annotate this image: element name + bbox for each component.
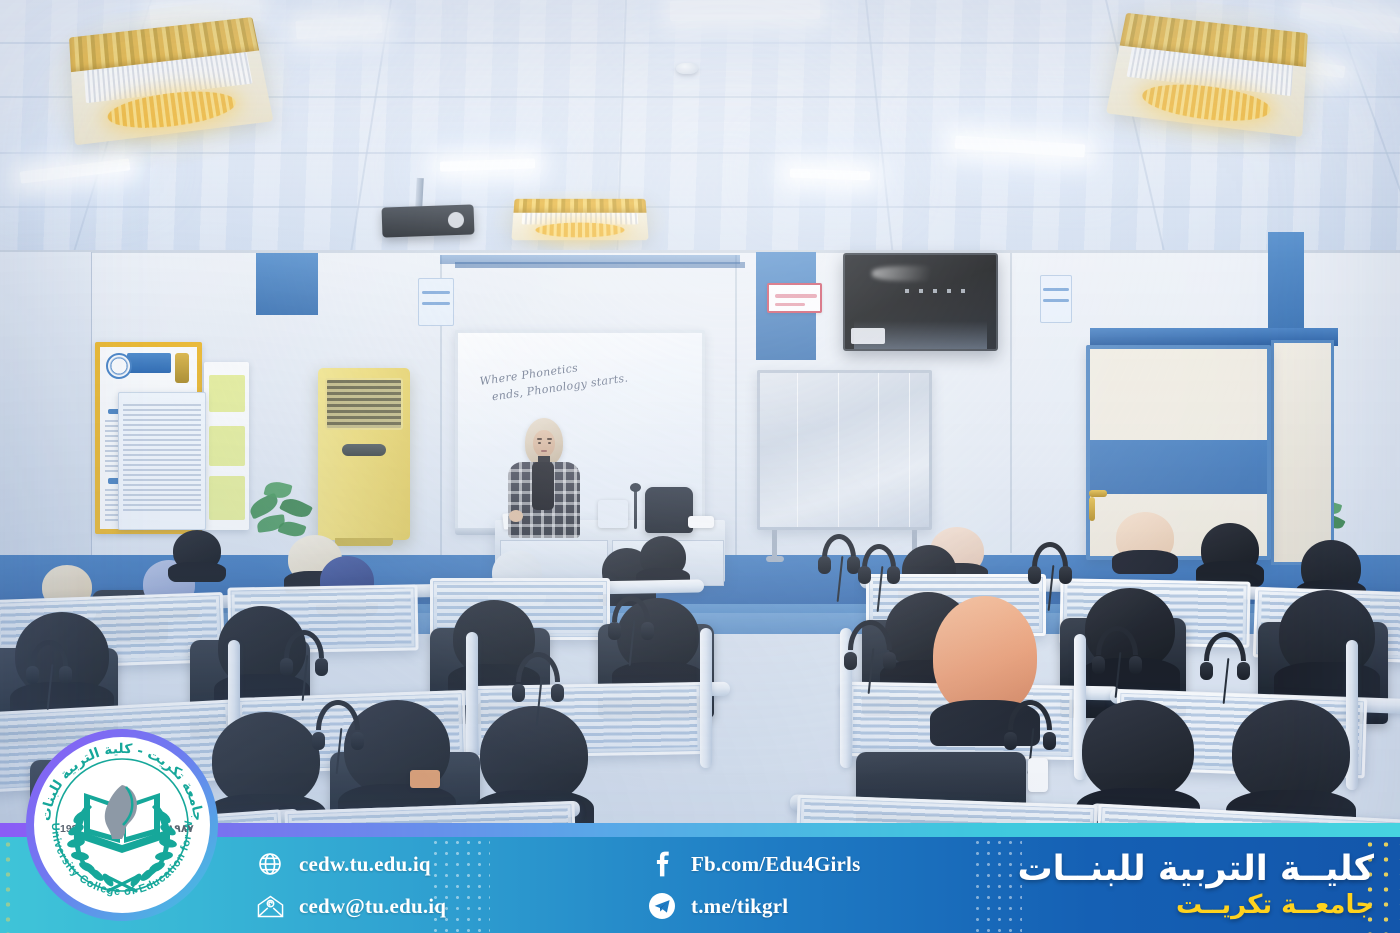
headphones[interactable] xyxy=(1204,632,1246,680)
red-bordered-sign xyxy=(767,283,822,313)
whiteboard-top-rail xyxy=(455,262,745,268)
microphone-icon xyxy=(630,483,641,492)
air-conditioner-unit xyxy=(318,368,410,540)
tv-sticker xyxy=(851,328,885,344)
college-name: كليــة التربية للبنــات xyxy=(1017,851,1374,889)
door-side-panel xyxy=(1271,340,1334,565)
contact-telegram[interactable]: t.me/tikgrl xyxy=(648,892,860,920)
contact-column-web: cedw.tu.edu.iq cedw@tu.edu.iq xyxy=(256,837,446,933)
fluorescent-strip-light xyxy=(670,0,820,21)
student-device[interactable] xyxy=(1028,758,1048,792)
door-handle[interactable] xyxy=(1089,490,1107,497)
wall-mounted-television xyxy=(843,253,998,351)
decorative-dot-pattern xyxy=(972,837,1022,933)
microphone-stand xyxy=(634,487,637,529)
contact-email[interactable]: cedw@tu.edu.iq xyxy=(256,892,446,920)
headphones[interactable] xyxy=(30,640,68,684)
contact-facebook[interactable]: Fb.com/Edu4Girls xyxy=(648,850,860,878)
contact-column-social: Fb.com/Edu4Girls t.me/tikgrl xyxy=(648,837,860,933)
decorative-gold-dots xyxy=(0,837,16,933)
student xyxy=(168,530,226,582)
telegram-url: t.me/tikgrl xyxy=(691,894,788,919)
facebook-icon xyxy=(648,850,676,878)
student xyxy=(1112,512,1178,574)
telegram-icon xyxy=(648,892,676,920)
headphones[interactable] xyxy=(1008,700,1052,750)
university-name: جامعــة تكريــت xyxy=(1176,891,1374,919)
contact-website[interactable]: cedw.tu.edu.iq xyxy=(256,850,446,878)
headphones[interactable] xyxy=(612,596,650,640)
booth-post xyxy=(700,628,712,768)
student xyxy=(1274,590,1380,702)
website-url: cedw.tu.edu.iq xyxy=(299,852,431,877)
wall-poster xyxy=(118,392,206,530)
screen-stand xyxy=(772,530,777,558)
ornate-ceiling-lamp xyxy=(511,199,648,240)
student xyxy=(1196,523,1264,587)
projection-screen-panel xyxy=(757,370,932,530)
instructor-face xyxy=(533,430,555,457)
smoke-detector-icon xyxy=(676,63,698,74)
ceiling-projector xyxy=(382,204,475,237)
student-hijab xyxy=(1232,700,1350,804)
university-logo: جامعة تكريت - كلية التربية للبنات Tikrit… xyxy=(22,725,222,925)
screenshot-root: Where Phonetics ends, Phonology starts. xyxy=(0,0,1400,933)
headphones[interactable] xyxy=(822,534,856,574)
wall-notice xyxy=(418,278,454,326)
whiteboard-handwriting: Where Phonetics ends, Phonology starts. xyxy=(479,345,682,407)
facebook-url: Fb.com/Edu4Girls xyxy=(691,852,860,877)
left-wall-panel xyxy=(0,252,92,582)
logo-svg: جامعة تكريت - كلية التربية للبنات Tikrit… xyxy=(22,725,222,925)
headphones[interactable] xyxy=(516,652,560,702)
envelope-icon xyxy=(256,892,284,920)
headphones[interactable] xyxy=(316,700,360,750)
instructor-chair xyxy=(645,487,693,533)
email-address: cedw@tu.edu.iq xyxy=(299,894,446,919)
door-handle-lever[interactable] xyxy=(1089,497,1095,521)
headphones[interactable] xyxy=(848,620,892,670)
monitor-back xyxy=(598,500,628,528)
instructor xyxy=(503,418,585,536)
globe-icon xyxy=(256,850,284,878)
headphones[interactable] xyxy=(862,544,896,584)
student-hijab xyxy=(1082,700,1194,800)
headphones[interactable] xyxy=(1032,542,1068,584)
headphones[interactable] xyxy=(284,630,324,676)
desk-item xyxy=(688,516,714,528)
wall-notice xyxy=(1040,275,1072,323)
blue-wall-accent xyxy=(256,253,318,315)
screen-stand-foot xyxy=(766,556,784,562)
suspended-ceiling xyxy=(0,0,1400,258)
brand-name-block: كليــة التربية للبنــات جامعــة تكريــت xyxy=(1017,837,1374,933)
headphones[interactable] xyxy=(1096,626,1138,674)
student-glove xyxy=(410,770,440,788)
student-hijab xyxy=(933,596,1037,716)
